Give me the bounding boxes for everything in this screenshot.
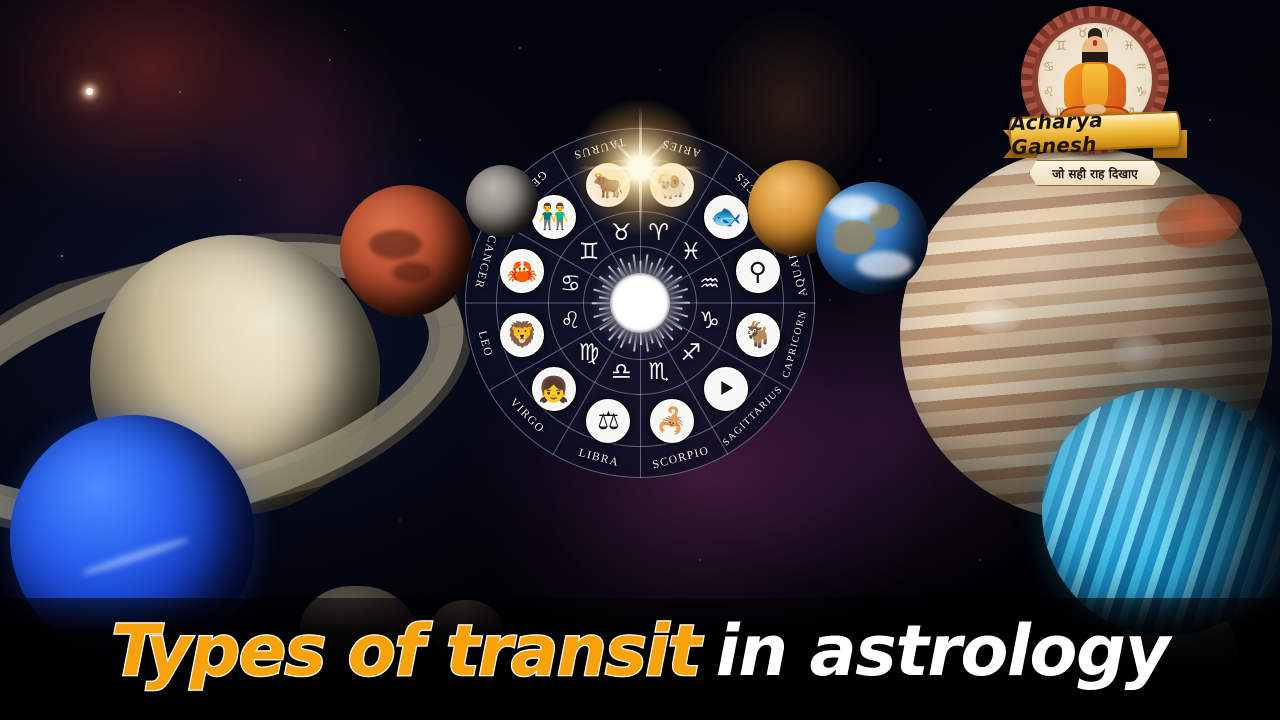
- glyph-libra: ♎: [604, 356, 638, 390]
- title-highlight: Types of transit: [111, 610, 700, 692]
- brand-name: Acharya Ganesh: [1010, 105, 1180, 159]
- sun-ray: [592, 302, 612, 304]
- glyph-sagittarius: ♐: [674, 337, 708, 371]
- planet-mercury: [466, 165, 538, 237]
- planet-earth: [816, 182, 928, 294]
- glyph-virgo: ♍: [572, 337, 606, 371]
- logo-ribbon: Acharya Ganesh: [1003, 112, 1187, 158]
- astrology-banner: ARIESPISCESAQUARIUSCAPRICORNSAGITTARIUSS…: [0, 0, 1280, 720]
- sun-ray: [640, 332, 642, 345]
- glyph-scorpio: ♏: [642, 356, 676, 390]
- bright-star: [86, 88, 93, 95]
- logo-glyph-aquarius: ♒: [1132, 59, 1150, 77]
- glyph-cancer: ♋: [553, 267, 587, 301]
- glyph-aquarius: ♒: [693, 267, 727, 301]
- glyph-leo: ♌: [553, 305, 587, 339]
- glyph-pisces: ♓: [674, 235, 708, 269]
- banner-title: Types of transit in astrology: [0, 598, 1280, 720]
- logo-tagline-plate: जो सही राह दिखाए: [1029, 160, 1161, 186]
- brand-tagline: जो सही राह दिखाए: [1052, 165, 1138, 182]
- wheel-sun-hub: [610, 273, 670, 333]
- title-rest: in astrology: [716, 610, 1169, 692]
- glyph-capricorn: ♑: [693, 305, 727, 339]
- logo-glyph-capricorn: ♑: [1132, 83, 1150, 101]
- sun-ray: [670, 302, 690, 304]
- brand-logo[interactable]: ♈♓♒♑♐♏♎♍♌♋♊♉ Acharya Ganesh जो सही राह द…: [1003, 4, 1187, 194]
- planet-mars: [340, 185, 472, 317]
- glyph-gemini: ♊: [572, 235, 606, 269]
